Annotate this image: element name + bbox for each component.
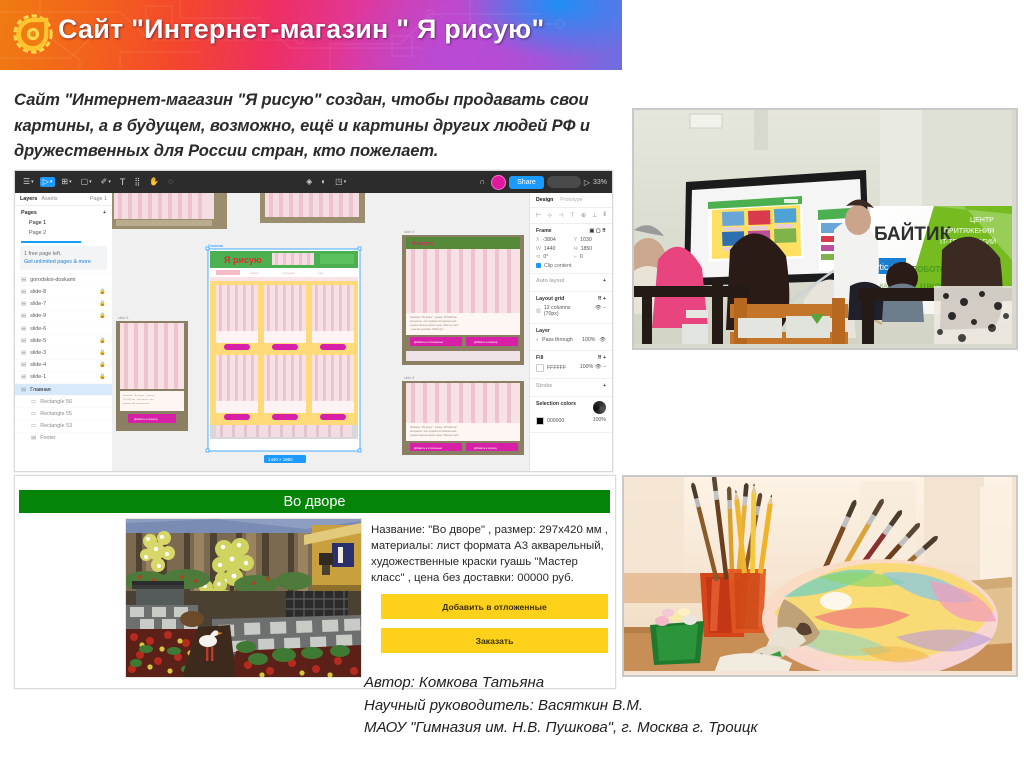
fill-opacity-value[interactable]: 100% (580, 364, 593, 372)
page-label-2: Page 2 (29, 230, 46, 236)
svg-text:Главная: Главная (208, 243, 223, 248)
selection-colors-header: Selection colors (536, 401, 606, 414)
svg-text:297x420 мм , материалы: лист: 297x420 мм , материалы: лист (123, 399, 154, 401)
fill-actions-icons[interactable]: ⠿ + (598, 355, 606, 361)
tab-design[interactable]: Design (536, 197, 553, 203)
list-item[interactable]: ▤ slide-7 🔒 (15, 298, 112, 310)
list-item[interactable]: ▤ gorodskoi-doskami (15, 273, 112, 285)
design-tabs[interactable]: Design Prototype (530, 193, 612, 208)
size-row[interactable]: W 1440 H 1850 (536, 246, 606, 252)
eye-icon[interactable]: 👁 − (595, 364, 606, 372)
gear-shield-logo-icon (13, 13, 55, 55)
svg-text:Добавить в отложенные: Добавить в отложенные (414, 340, 444, 344)
lock-icon[interactable]: 🔒 (99, 301, 106, 307)
list-item[interactable]: ▤ Footer (15, 432, 112, 444)
order-button[interactable]: Заказать (381, 628, 608, 653)
page-quota-bar (21, 241, 81, 243)
w-field[interactable]: W 1440 (536, 246, 568, 252)
lock-icon[interactable]: 🔒 (99, 374, 106, 380)
presentation-photo: БАЙТИК ЦЕНТР ПРИТЯЖЕНИЯ IT-ТЕХНОЛОГИЙ by… (632, 108, 1018, 350)
tab-prototype[interactable]: Prototype (560, 197, 582, 203)
layer-label: Rectangle 53 (40, 423, 72, 429)
page-item-1[interactable]: Page 1 (15, 218, 112, 228)
svg-text:о продукте: о продукте (282, 272, 296, 275)
clip-content-checkbox[interactable]: Clip content (536, 263, 606, 269)
layer-label: Footer (40, 435, 56, 441)
svg-text:slide-8: slide-8 (404, 376, 414, 380)
svg-text:Добавить в корзину: Добавить в корзину (474, 340, 498, 344)
grid-icon: ▥ (536, 308, 541, 314)
eye-icon[interactable]: 👁 (599, 337, 606, 343)
selection-hex-value[interactable]: 000000 (547, 418, 564, 424)
position-row[interactable]: X -3804 Y 1030 (536, 237, 606, 243)
svg-text:Название: "Во дворе" , размер:: Название: "Во дворе" , размер: 297x420 м… (410, 317, 458, 319)
frame-header: Frame ▣ ▢ ⠿ (536, 228, 606, 234)
fill-row[interactable]: FFFFFF 100% 👁 − (536, 364, 606, 372)
layer-label: Rectangle 56 (40, 399, 72, 405)
page-label-1: Page 1 (29, 220, 46, 226)
shape-tool-icon[interactable]: ▢▾ (78, 177, 95, 187)
h-value[interactable]: 1850 (581, 246, 593, 252)
layout-grid-row[interactable]: ▥ 12 columns (70px) 👁 − (536, 305, 606, 317)
frame-label: Frame (536, 228, 552, 234)
x-key: X (536, 237, 539, 243)
user-avatar[interactable] (491, 175, 506, 190)
list-item[interactable]: ▭ Rectangle 53 (15, 419, 112, 431)
layer-label: Rectangle 55 (40, 411, 72, 417)
frame-icon: ▤ (21, 350, 26, 356)
dev-mode-toggle[interactable] (547, 176, 581, 188)
tab-assets[interactable]: Assets (41, 196, 57, 202)
page-title: Сайт "Интернет-магазин " Я рисую" (58, 14, 544, 45)
fill-section[interactable]: Fill ⠿ + FFFFFF 100% 👁 − (530, 351, 612, 380)
artboard-top-middle (260, 193, 365, 223)
headphones-icon[interactable]: ∩ (476, 177, 488, 187)
plus-icon[interactable]: + (603, 278, 606, 284)
list-item[interactable]: ▤ slide-5 🔒 (15, 334, 112, 346)
clip-content-label: Clip content (544, 263, 571, 269)
fill-hex-value[interactable]: FFFFFF (547, 365, 566, 371)
layer-label: slide-9 (30, 313, 46, 319)
pages-section-header: Pages + (15, 206, 112, 218)
intro-paragraph: Сайт "Интернет-магазин "Я рисую" создан,… (14, 88, 614, 165)
layer-label: slide-3 (30, 350, 46, 356)
frame-icon: ▤ (21, 387, 26, 393)
rect-icon: ▭ (31, 411, 36, 417)
layer-label: gorodskoi-doskami (30, 277, 75, 283)
frame-icon: ▤ (21, 301, 26, 307)
artboard-left-lower: slide-6 Название: "Во дворе" , размер: 2… (116, 316, 188, 431)
page-selector[interactable]: Page 1 (90, 196, 107, 202)
author-line: Автор: Комкова Татьяна (364, 672, 924, 695)
list-item[interactable]: ▭ Rectangle 55 (15, 407, 112, 419)
svg-text:ПРИТЯЖЕНИЯ: ПРИТЯЖЕНИЯ (944, 228, 994, 235)
align-left-icon[interactable]: ⊢ (536, 212, 541, 219)
w-value[interactable]: 1440 (544, 246, 556, 252)
lock-icon[interactable]: 🔒 (99, 338, 106, 344)
selection-color-row[interactable]: 000000 100% (536, 417, 606, 425)
blend-mode-cell[interactable]: ◐ Pass through (536, 337, 578, 343)
frame-icon: ▤ (21, 338, 26, 344)
svg-text:художественные краски гуашь "М: художественные краски гуашь "Мастер клас… (410, 435, 459, 437)
svg-text:, цена без доставки: 00000 руб: , цена без доставки: 00000 руб. (410, 329, 444, 331)
zoom-level[interactable]: 33% (593, 179, 607, 186)
layer-label: slide-1 (30, 374, 46, 380)
layer-label: Главная (30, 387, 51, 393)
frame-tool-icon[interactable]: ⊞▾ (58, 177, 74, 187)
align-middle-v-icon[interactable]: ⊕ (581, 212, 586, 219)
align-top-icon[interactable]: ⊤ (570, 212, 575, 219)
checkbox-icon[interactable] (536, 263, 541, 268)
h-key: H (574, 246, 578, 252)
grid-actions-icons[interactable]: ⠿ + (598, 296, 606, 302)
selection-colors-label: Selection colors (536, 401, 576, 414)
rect-icon: ▭ (31, 399, 36, 405)
alignment-tools[interactable]: ⊢ ⊹ ⊣ ⊤ ⊕ ⊥ ⫴ (530, 208, 612, 224)
figma-layers-panel[interactable]: Layers Assets Page 1 Pages + Page 1 Page… (15, 193, 113, 471)
dress-pattern (934, 286, 1012, 344)
layer-opacity-value[interactable]: 100% (582, 337, 595, 343)
layer-header: Layer (536, 328, 606, 334)
art-supplies-image (624, 477, 1012, 671)
align-center-h-icon[interactable]: ⊹ (547, 212, 552, 219)
rotate-icon: ⟲ (536, 254, 540, 260)
plus-icon[interactable]: + (103, 210, 106, 216)
painting-vo-dvore (126, 519, 361, 677)
presentation-photo-image: БАЙТИК ЦЕНТР ПРИТЯЖЕНИЯ IT-ТЕХНОЛОГИЙ by… (634, 110, 1012, 344)
svg-text:материалы: лист формата А3 акв: материалы: лист формата А3 акварельный, (410, 430, 457, 433)
lock-icon[interactable]: 🔒 (99, 362, 106, 368)
svg-text:Добавить в корзину: Добавить в корзину (134, 417, 158, 421)
layers-list[interactable]: ▤ gorodskoi-doskami ▤ slide-8 🔒 ▤ slide-… (15, 273, 112, 444)
fill-label: Fill (536, 355, 544, 361)
tab-layers[interactable]: Layers (20, 196, 37, 202)
svg-text:Добавить в отложенные: Добавить в отложенные (414, 447, 443, 450)
layer-label: slide-6 (30, 326, 46, 332)
svg-text:1440 × 1850: 1440 × 1850 (268, 457, 293, 462)
svg-text:slide-6: slide-6 (118, 316, 128, 320)
frame-icon: ▤ (21, 313, 26, 319)
list-item[interactable]: ▤ slide-3 🔒 (15, 346, 112, 358)
pencil-cup (728, 569, 766, 633)
plus-icon[interactable]: + (603, 383, 606, 389)
svg-text:о нас: о нас (317, 272, 324, 275)
svg-text:Я рисую: Я рисую (224, 255, 262, 265)
frame-icon: ▤ (31, 435, 36, 441)
layer-label: slide-5 (30, 338, 46, 344)
blend-mode-value[interactable]: Pass through (542, 337, 573, 343)
auto-layout-section[interactable]: Auto layout + (530, 274, 612, 292)
svg-text:Название: "Во дворе" , размер:: Название: "Во дворе" , размер: (123, 395, 155, 397)
svg-text:каталог: каталог (250, 272, 259, 275)
rect-icon: ▭ (31, 423, 36, 429)
rotation-row[interactable]: ⟲ 0° ⌐ 0 (536, 254, 606, 260)
frame-section[interactable]: Frame ▣ ▢ ⠿ X -3804 Y 1030 W (530, 224, 612, 274)
supervisor-line: Научный руководитель: Васяткин В.М. (364, 695, 924, 718)
lock-icon[interactable]: 🔒 (99, 289, 106, 295)
figma-menu-icon[interactable]: ☰▾ (20, 177, 37, 187)
comment-tool-icon[interactable]: ◌ (165, 177, 176, 187)
figma-screenshot: ☰▾ ▷▾ ⊞▾ ▢▾ ✐▾ T ⣿ ✋ ◌ ◈ ◐ ◳▾ ∩ Share ▷ … (14, 170, 613, 472)
auto-layout-header: Auto layout + (536, 278, 606, 284)
text-tool-icon[interactable]: T (117, 177, 129, 188)
layers-tabs[interactable]: Layers Assets Page 1 (15, 193, 112, 206)
frame-icon: ▤ (21, 326, 26, 332)
selection-colors-section[interactable]: Selection colors 000000 100% (530, 397, 612, 433)
product-card: Во дворе (14, 475, 616, 689)
frame-icon: ▤ (21, 289, 26, 295)
mask-icon[interactable]: ◐ (318, 177, 329, 187)
svg-text:slide-9: slide-9 (404, 230, 414, 234)
layout-grid-section[interactable]: Layout grid ⠿ + ▥ 12 columns (70px) 👁 − (530, 292, 612, 325)
resources-tool-icon[interactable]: ⣿ (131, 177, 143, 187)
rotation-value[interactable]: 0° (543, 254, 548, 260)
list-item-selected[interactable]: ▤ Главная (15, 383, 112, 395)
list-item[interactable]: ▤ slide-1 🔒 (15, 371, 112, 383)
list-item[interactable]: ▤ slide-4 🔒 (15, 359, 112, 371)
figma-toolbar: ☰▾ ▷▾ ⊞▾ ▢▾ ✐▾ T ⣿ ✋ ◌ ◈ ◐ ◳▾ ∩ Share ▷ … (15, 171, 612, 193)
layer-label: slide-8 (30, 289, 46, 295)
auto-layout-label: Auto layout (536, 278, 565, 284)
layer-label: Layer (536, 328, 550, 334)
svg-text:ЦЕНТР: ЦЕНТР (970, 217, 994, 224)
frame-icon: ▤ (21, 362, 26, 368)
actions-icon[interactable]: ◈ (303, 177, 315, 187)
w-key: W (536, 246, 541, 252)
layer-label: slide-4 (30, 362, 46, 368)
canvas-artboards: Главная Я рисую ка (112, 193, 530, 471)
lock-icon[interactable]: 🔒 (99, 350, 106, 356)
frame-preset-icons[interactable]: ▣ ▢ ⠿ (590, 228, 607, 234)
artboard-bottom-right: slide-8 Название: "Во дворе" , размер: 2… (402, 376, 524, 455)
distribute-icon[interactable]: ⫴ (603, 212, 606, 219)
artboard-main: Главная Я рисую ка (206, 243, 361, 463)
y-key: Y (574, 237, 577, 243)
layer-section[interactable]: Layer ◐ Pass through 100% 👁 (530, 324, 612, 351)
corner-radius-field[interactable]: ⌐ 0 (574, 254, 606, 260)
artboard-right: slide-9 Я рисую Название: "Во дворе" (402, 230, 524, 365)
align-bottom-icon[interactable]: ⊥ (592, 212, 597, 219)
color-wheel-icon[interactable] (593, 401, 606, 414)
play-present-icon[interactable]: ▷ (584, 178, 590, 187)
svg-text:материалы: лист формата А3 акв: материалы: лист формата А3 акварельный, (410, 320, 457, 323)
list-item[interactable]: ▤ slide-8 🔒 (15, 285, 112, 297)
painting-image (125, 518, 362, 678)
selection-opacity-value[interactable]: 100% (593, 417, 606, 425)
school-line: МАОУ "Гимназия им. Н.В. Пушкова", г. Мос… (364, 717, 924, 740)
page-quota-note: 1 free page left. Get unlimited pages & … (20, 246, 107, 270)
stroke-label: Stroke (536, 383, 552, 389)
selection-color-cell[interactable]: 000000 (536, 417, 578, 425)
layout-grid-header: Layout grid ⠿ + (536, 296, 606, 302)
h-field[interactable]: H 1850 (574, 246, 606, 252)
y-field[interactable]: Y 1030 (574, 237, 606, 243)
stroke-section[interactable]: Stroke + (530, 379, 612, 397)
fill-header: Fill ⠿ + (536, 355, 606, 361)
x-field[interactable]: X -3804 (536, 237, 568, 243)
art-supplies-photo (622, 475, 1018, 677)
component-icon[interactable]: ◳▾ (332, 177, 349, 187)
hand-tool-icon[interactable]: ✋ (146, 177, 162, 187)
svg-text:художественные краски гуашь "М: художественные краски гуашь "Мастер клас… (410, 325, 459, 327)
layer-label: slide-7 (30, 301, 46, 307)
svg-text:Я рисую: Я рисую (412, 241, 434, 247)
frame-icon: ▤ (21, 277, 26, 283)
fill-color-cell[interactable]: FFFFFF (536, 364, 578, 372)
card-description: Название: "Во дворе" , размер: 297x420 м… (371, 523, 614, 587)
list-item[interactable]: ▭ Rectangle 56 (15, 395, 112, 407)
corner-radius-value[interactable]: 0 (580, 254, 583, 260)
svg-text:Добавить в корзину: Добавить в корзину (474, 447, 498, 450)
svg-text:формата А3 акварельный: формата А3 акварельный (123, 402, 150, 405)
fill-swatch[interactable] (536, 364, 544, 372)
frame-icon: ▤ (21, 374, 26, 380)
x-value[interactable]: -3804 (542, 237, 555, 243)
lock-icon[interactable]: 🔒 (99, 313, 106, 319)
rotation-field[interactable]: ⟲ 0° (536, 254, 568, 260)
layout-grid-label: Layout grid (536, 296, 564, 302)
selection-swatch[interactable] (536, 417, 544, 425)
quota-line1: 1 free page left. (24, 250, 103, 258)
blend-icon: ◐ (536, 337, 539, 343)
list-item[interactable]: ▤ slide-6 (15, 322, 112, 334)
corner-radius-icon: ⌐ (574, 254, 577, 260)
page-item-2[interactable]: Page 2 (15, 228, 112, 238)
figma-canvas[interactable]: Главная Я рисую ка (112, 193, 530, 471)
stroke-header: Stroke + (536, 383, 606, 389)
lattice (286, 591, 348, 619)
title-banner: Сайт "Интернет-магазин " Я рисую" (0, 0, 622, 70)
align-right-icon[interactable]: ⊣ (558, 212, 563, 219)
move-tool-icon[interactable]: ▷▾ (40, 177, 56, 187)
pages-label: Pages (21, 210, 37, 216)
grid-visibility-icon[interactable]: 👁 − (595, 305, 606, 317)
pen-tool-icon[interactable]: ✐▾ (98, 177, 114, 187)
grid-value-cell[interactable]: ▥ 12 columns (70px) (536, 305, 585, 317)
card-header: Во дворе (19, 490, 610, 513)
credits-block: Автор: Комкова Татьяна Научный руководит… (364, 672, 924, 740)
artboard-top-left (112, 193, 227, 229)
y-value[interactable]: 1030 (580, 237, 592, 243)
share-button[interactable]: Share (509, 176, 544, 189)
list-item[interactable]: ▤ slide-9 🔒 (15, 310, 112, 322)
figma-design-panel[interactable]: Design Prototype ⊢ ⊹ ⊣ ⊤ ⊕ ⊥ ⫴ Frame ▣ ▢… (529, 193, 612, 471)
blend-row[interactable]: ◐ Pass through 100% 👁 (536, 337, 606, 343)
add-to-saved-button[interactable]: Добавить в отложенные (381, 594, 608, 619)
svg-text:Название: "Во дворе" , размер:: Название: "Во дворе" , размер: 297x420 м… (410, 427, 458, 429)
slide-root: Сайт "Интернет-магазин " Я рисую" Сайт "… (0, 0, 1024, 768)
layout-grid-value[interactable]: 12 columns (70px) (544, 305, 585, 317)
quota-link[interactable]: Get unlimited pages & more (24, 258, 103, 266)
